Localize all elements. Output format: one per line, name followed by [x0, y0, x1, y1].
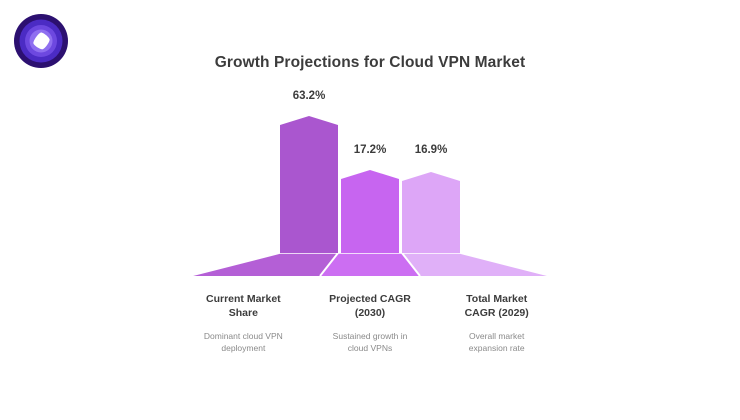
- category-sub-3-line1: Overall market: [469, 331, 524, 341]
- page-title: Growth Projections for Cloud VPN Market: [0, 54, 740, 72]
- bar-3[interactable]: [402, 172, 460, 253]
- category-block-3: Total Market CAGR (2029) Overall market …: [433, 292, 560, 354]
- category-sub-2-line1: Sustained growth in: [333, 331, 408, 341]
- category-block-2: Projected CAGR (2030) Sustained growth i…: [307, 292, 434, 354]
- bar-1[interactable]: [280, 116, 338, 253]
- bar-1-body[interactable]: [280, 116, 338, 253]
- bar-2-body[interactable]: [341, 170, 399, 253]
- category-label-row: Current Market Share Dominant cloud VPN …: [180, 292, 560, 354]
- category-label-2: Projected CAGR (2030): [310, 292, 431, 320]
- bar-3-body[interactable]: [402, 172, 460, 253]
- category-sub-1: Dominant cloud VPN deployment: [183, 330, 304, 354]
- category-sub-3: Overall market expansion rate: [436, 330, 557, 354]
- category-block-1: Current Market Share Dominant cloud VPN …: [180, 292, 307, 354]
- bar-chart-svg: [180, 80, 560, 280]
- category-label-1: Current Market Share: [183, 292, 304, 320]
- category-sub-1-line2: deployment: [221, 343, 265, 353]
- chart-base-platform: [190, 253, 550, 276]
- bar-value-label-2: 17.2%: [354, 144, 387, 156]
- chart-plot-area: 63.2% 17.2% 16.9%: [180, 80, 560, 280]
- category-label-1-line1: Current Market: [206, 293, 281, 305]
- category-sub-3-line2: expansion rate: [469, 343, 525, 353]
- bar-value-label-1: 63.2%: [293, 90, 326, 102]
- category-sub-2: Sustained growth in cloud VPNs: [310, 330, 431, 354]
- category-sub-2-line2: cloud VPNs: [348, 343, 392, 353]
- bar-value-label-3: 16.9%: [415, 144, 448, 156]
- bar-2[interactable]: [341, 170, 399, 253]
- category-label-2-line2: (2030): [355, 307, 385, 319]
- chart-canvas: Growth Projections for Cloud VPN Market: [0, 0, 740, 420]
- category-label-3-line2: CAGR (2029): [465, 307, 529, 319]
- category-label-3-line1: Total Market: [466, 293, 527, 305]
- category-label-1-line2: Share: [229, 307, 258, 319]
- category-label-3: Total Market CAGR (2029): [436, 292, 557, 320]
- category-label-2-line1: Projected CAGR: [329, 293, 411, 305]
- category-sub-1-line1: Dominant cloud VPN: [204, 331, 283, 341]
